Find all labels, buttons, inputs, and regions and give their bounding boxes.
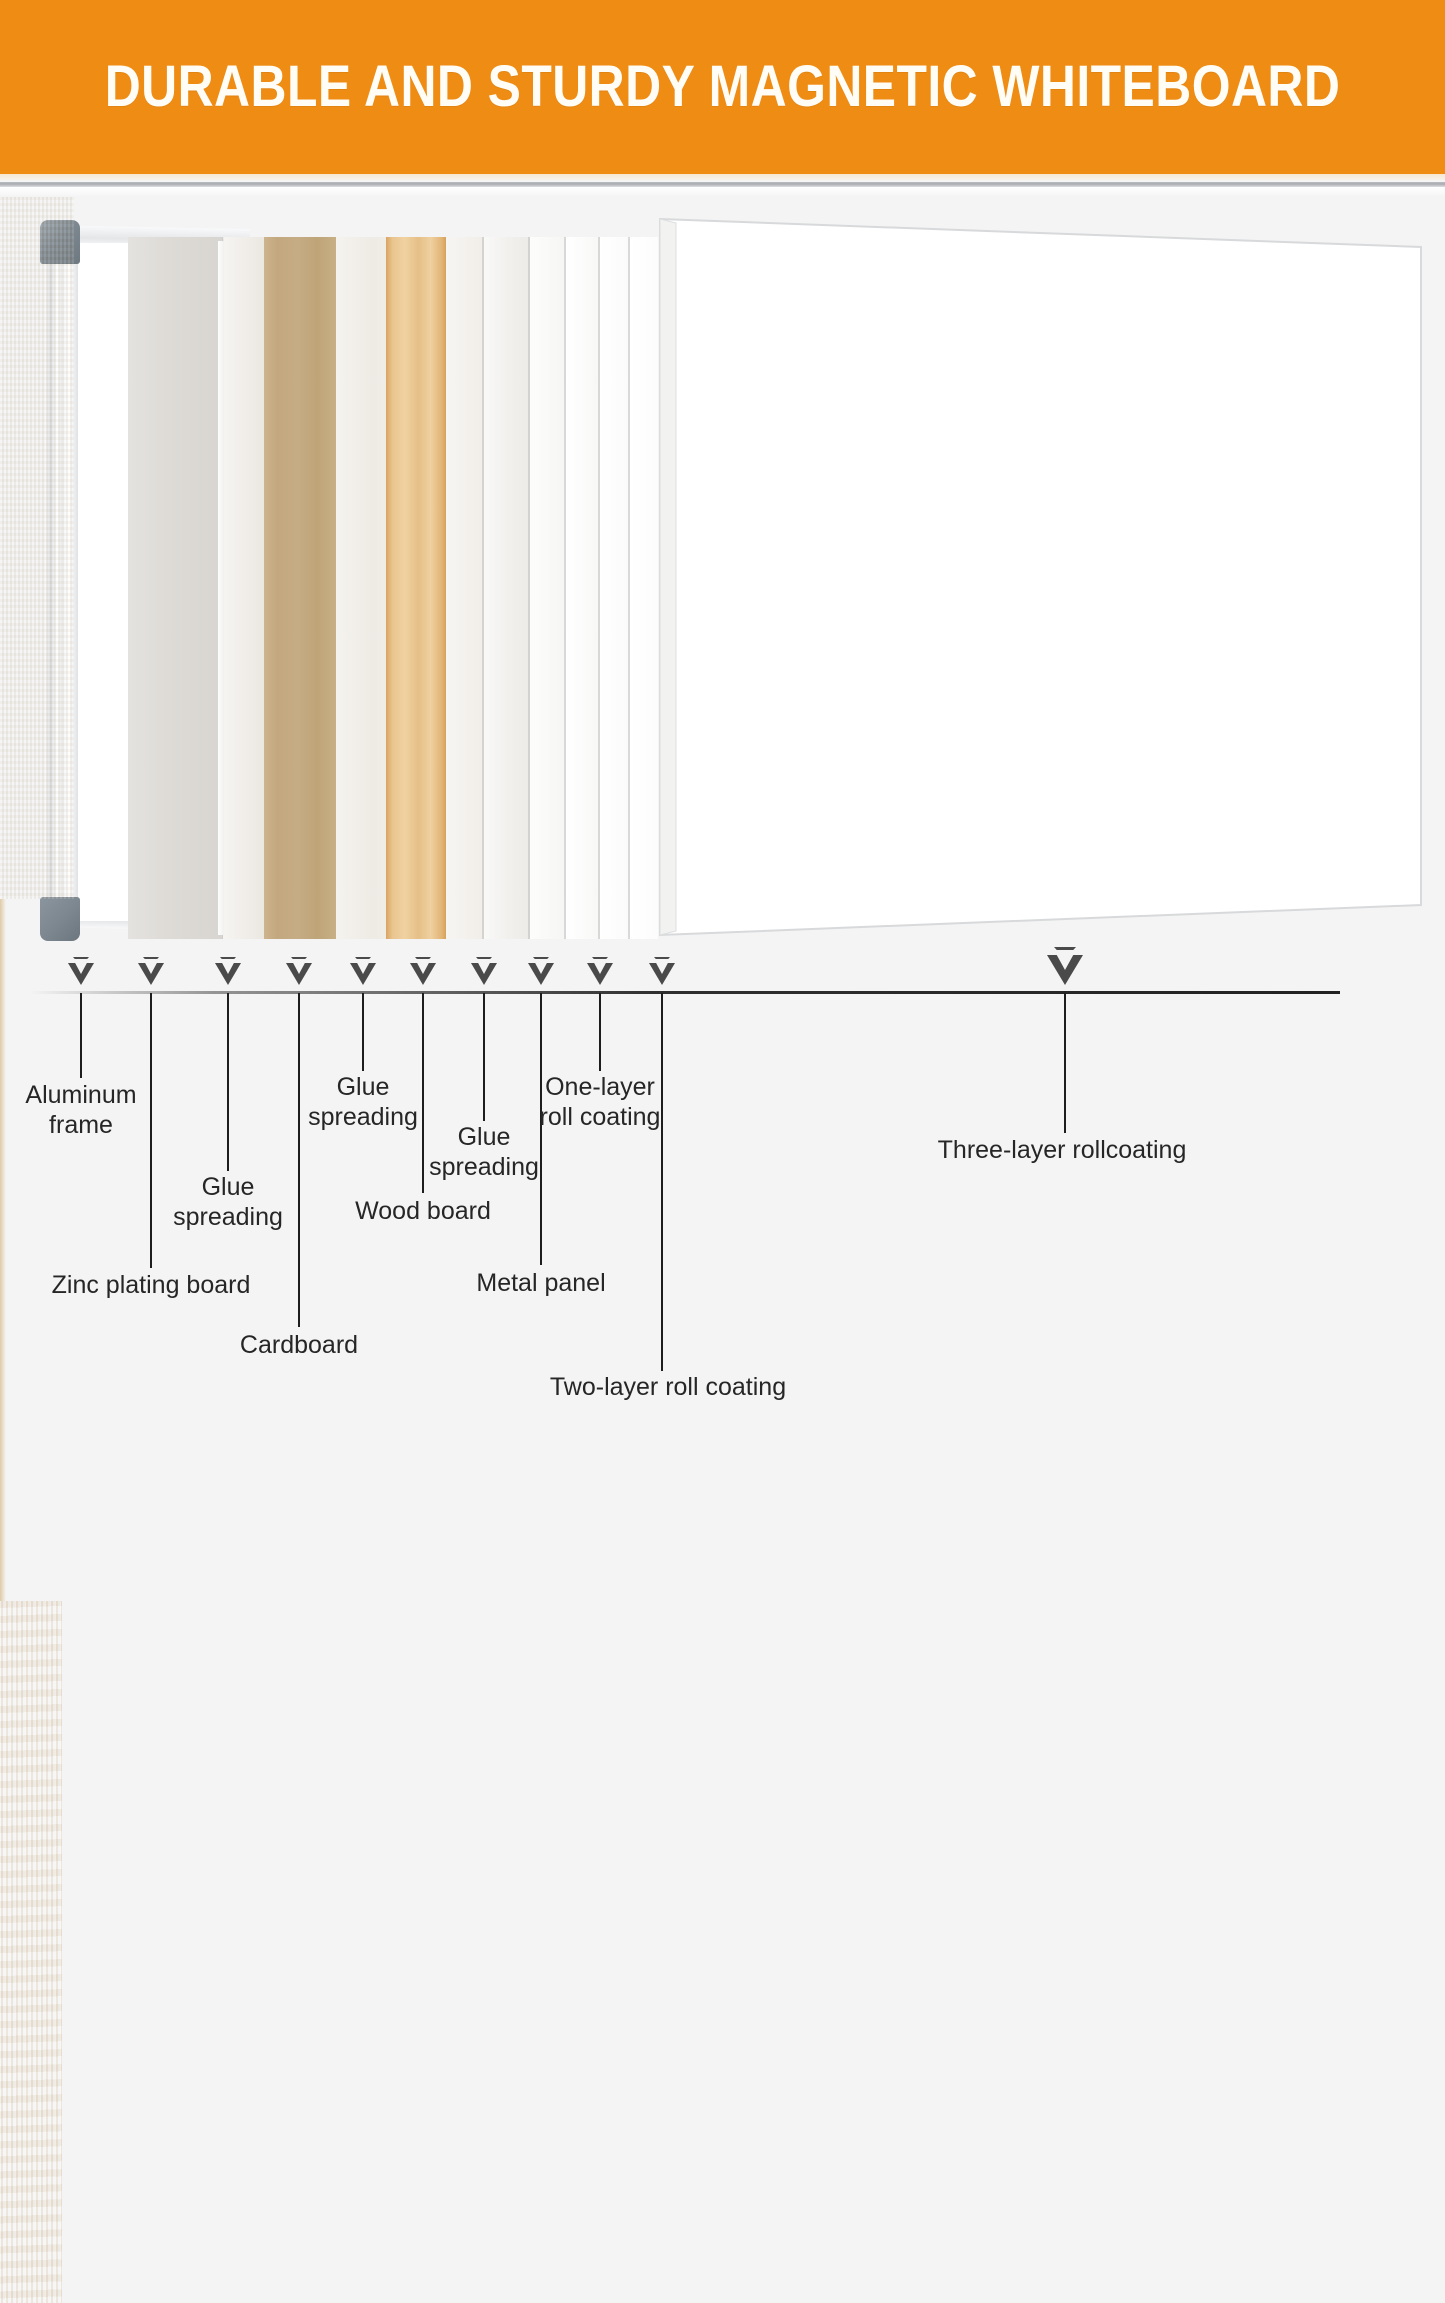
leader-three-layer-rollcoating — [1064, 993, 1066, 1133]
label-two-layer-roll-coating: Two-layer roll coating — [550, 1372, 786, 1402]
leader-cardboard — [298, 993, 300, 1327]
header-divider-light — [0, 174, 1445, 182]
leader-glue-spreading-3 — [483, 993, 485, 1121]
label-aluminum-frame: Aluminum frame — [25, 1080, 136, 1140]
leader-glue-spreading-1 — [227, 993, 229, 1171]
leader-aluminum-frame — [80, 993, 82, 1078]
header-divider-shadow — [0, 187, 1445, 197]
exploded-product-view — [0, 197, 1445, 967]
label-glue-spreading-1: Glue spreading — [173, 1172, 283, 1232]
label-three-layer-rollcoating: Three-layer rollcoating — [938, 1135, 1187, 1165]
whiteboard-front-surface — [0, 197, 1445, 967]
layer-callout-zone: Aluminum frame Zinc plating board Glue s… — [0, 960, 1445, 1445]
label-metal-panel: Metal panel — [476, 1268, 605, 1298]
leader-glue-spreading-2 — [362, 993, 364, 1071]
layer-wood-board-grain — [0, 1601, 62, 2303]
leader-one-layer-roll-coating — [599, 993, 601, 1071]
leader-two-layer-roll-coating — [661, 993, 663, 1371]
leader-zinc-plating-board — [150, 993, 152, 1268]
label-one-layer-roll-coating: One-layer roll coating — [540, 1072, 661, 1132]
label-cardboard: Cardboard — [240, 1330, 358, 1360]
label-wood-board: Wood board — [355, 1196, 491, 1226]
header-banner: DURABLE AND STURDY MAGNETIC WHITEBOARD — [0, 0, 1445, 174]
label-glue-spreading-3: Glue spreading — [429, 1122, 539, 1182]
label-zinc-plating-board: Zinc plating board — [52, 1270, 251, 1300]
page-title: DURABLE AND STURDY MAGNETIC WHITEBOARD — [101, 55, 1344, 119]
label-glue-spreading-2: Glue spreading — [308, 1072, 418, 1132]
leader-wood-board — [422, 993, 424, 1193]
